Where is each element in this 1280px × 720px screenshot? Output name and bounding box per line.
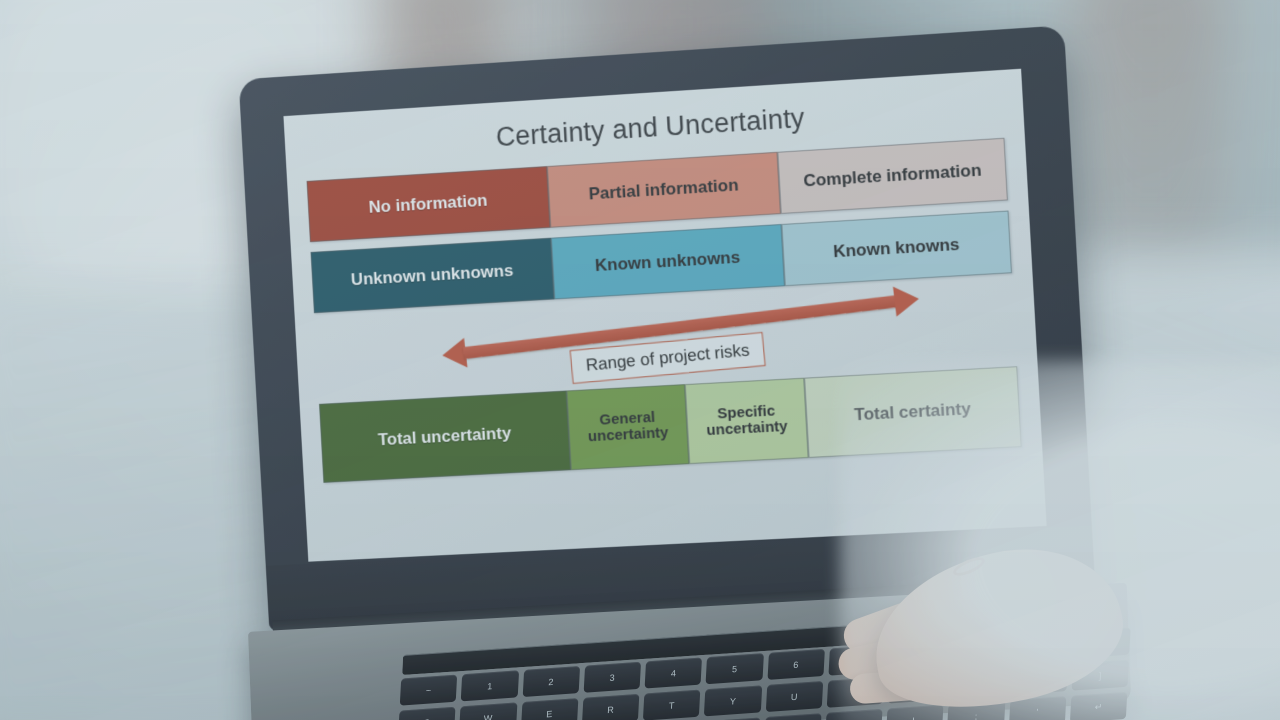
key-W[interactable]: W	[459, 702, 517, 720]
key-R[interactable]: R	[582, 694, 640, 720]
key-U[interactable]: U	[765, 681, 823, 712]
key-6[interactable]: 6	[767, 649, 825, 680]
key-E[interactable]: E	[520, 698, 578, 720]
block-partial-information[interactable]: Partial information	[547, 152, 781, 228]
laptop-screen[interactable]: Certainty and Uncertainty No information…	[283, 69, 1046, 562]
key-J[interactable]: J	[764, 713, 822, 720]
block-known-knowns[interactable]: Known knowns	[781, 211, 1012, 287]
key-~[interactable]: ~	[400, 675, 458, 706]
palm	[859, 530, 1135, 720]
presentation-slide: Certainty and Uncertainty No information…	[283, 69, 1046, 562]
key-Y[interactable]: Y	[704, 685, 762, 716]
key-2[interactable]: 2	[522, 666, 580, 697]
block-complete-information[interactable]: Complete information	[777, 138, 1008, 214]
key-5[interactable]: 5	[706, 653, 764, 684]
block-no-information[interactable]: No information	[307, 166, 551, 242]
key-T[interactable]: T	[643, 690, 701, 720]
photo-scene: Certainty and Uncertainty No information…	[0, 0, 1280, 720]
key-Q[interactable]: Q	[398, 707, 456, 720]
key-4[interactable]: 4	[645, 657, 703, 688]
key-1[interactable]: 1	[461, 670, 519, 701]
block-known-unknowns[interactable]: Known unknowns	[551, 224, 785, 299]
block-total-certainty[interactable]: Total certainty	[804, 366, 1022, 458]
arrow-head-right-icon	[893, 284, 921, 317]
hand	[836, 536, 1166, 720]
block-specific-uncertainty[interactable]: Specific uncertainty	[685, 378, 809, 464]
block-unknown-unknowns[interactable]: Unknown unknowns	[311, 238, 555, 313]
block-general-uncertainty[interactable]: General uncertainty	[566, 384, 689, 470]
block-total-uncertainty[interactable]: Total uncertainty	[319, 391, 571, 483]
key-3[interactable]: 3	[583, 662, 641, 693]
